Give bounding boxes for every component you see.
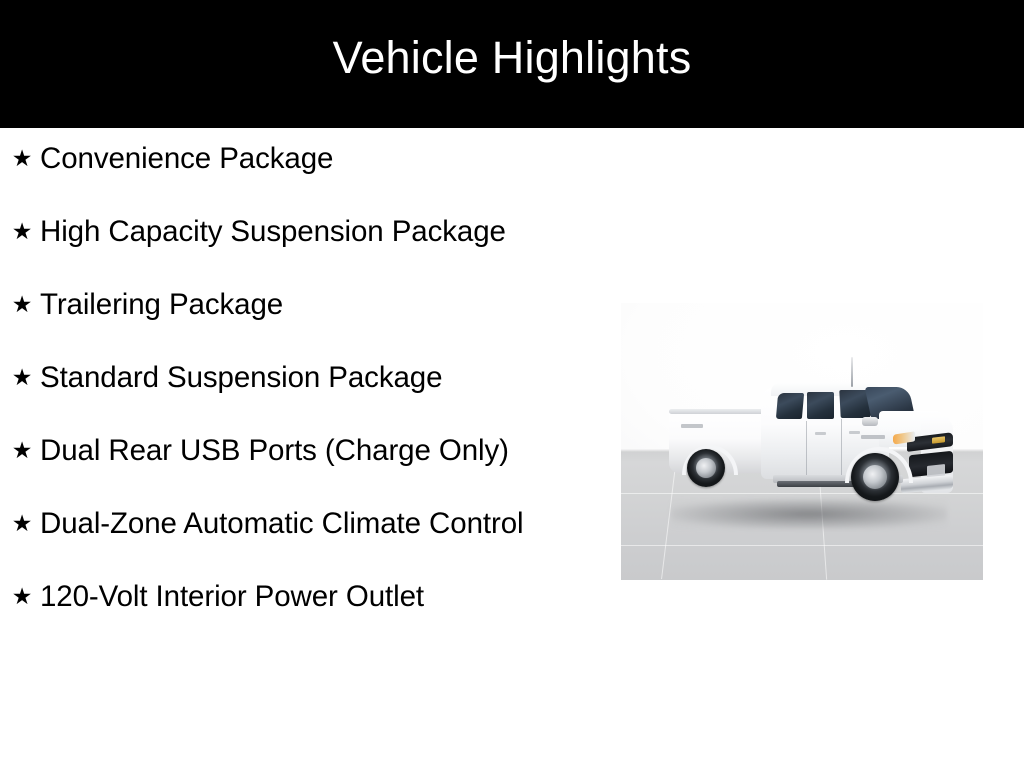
star-bullet-icon: ★ (0, 430, 40, 471)
truck-mid-window (807, 392, 834, 419)
star-bullet-icon: ★ (0, 503, 40, 544)
list-item: ★ Dual-Zone Automatic Climate Control (0, 503, 580, 544)
pickup-truck-illustration (665, 349, 953, 535)
star-bullet-icon: ★ (0, 284, 40, 325)
list-item: ★ Dual Rear USB Ports (Charge Only) (0, 430, 580, 471)
list-item: ★ Trailering Package (0, 284, 580, 325)
truck-door-handle (849, 431, 860, 434)
star-bullet-icon: ★ (0, 211, 40, 252)
list-item-label: Standard Suspension Package (40, 357, 580, 398)
truck-door-handle (815, 432, 826, 435)
vehicle-highlights-list: ★ Convenience Package ★ High Capacity Su… (0, 138, 580, 649)
list-item: ★ Standard Suspension Package (0, 357, 580, 398)
star-bullet-icon: ★ (0, 357, 40, 398)
vehicle-photo (621, 303, 983, 580)
truck-antenna (851, 357, 853, 387)
page-title: Vehicle Highlights (0, 0, 1024, 80)
list-item-label: Dual-Zone Automatic Climate Control (40, 503, 580, 544)
star-bullet-icon: ★ (0, 138, 40, 179)
truck-shadow (671, 499, 947, 529)
truck-door-seam (806, 421, 807, 475)
title-banner: Vehicle Highlights (0, 0, 1024, 128)
star-bullet-icon: ★ (0, 576, 40, 617)
truck-rear-window (776, 393, 804, 419)
floor-seam (621, 545, 983, 546)
truck-side-mirror (862, 417, 878, 426)
truck-door-seam (841, 419, 842, 475)
truck-rear-wheel (687, 449, 725, 487)
list-item: ★ 120-Volt Interior Power Outlet (0, 576, 580, 617)
list-item-label: High Capacity Suspension Package (40, 211, 580, 252)
list-item: ★ Convenience Package (0, 138, 580, 179)
truck-front-wheel (851, 453, 899, 501)
truck-side-badge (861, 435, 885, 439)
truck-bed-badge (681, 424, 703, 428)
list-item-label: Dual Rear USB Ports (Charge Only) (40, 430, 580, 471)
list-item-label: 120-Volt Interior Power Outlet (40, 576, 580, 617)
list-item-label: Trailering Package (40, 284, 580, 325)
list-item-label: Convenience Package (40, 138, 580, 179)
list-item: ★ High Capacity Suspension Package (0, 211, 580, 252)
